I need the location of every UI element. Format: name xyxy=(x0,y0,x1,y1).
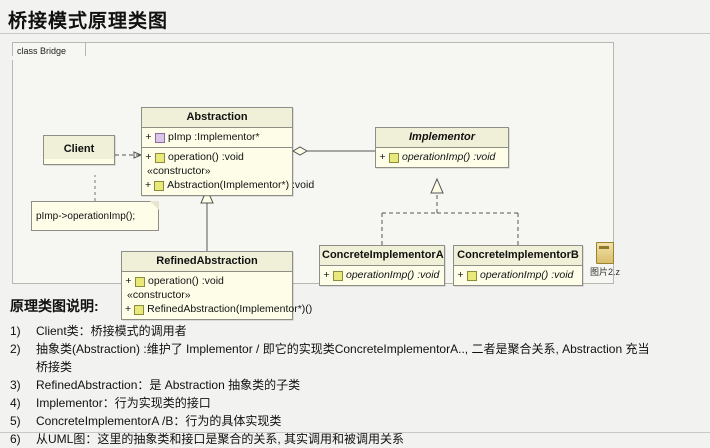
class-name-implementor: Implementor xyxy=(376,128,508,148)
member-text: operation() :void xyxy=(168,150,244,164)
visibility-marker: + xyxy=(379,150,386,164)
member-text: operation() :void xyxy=(148,274,224,288)
list-item: 3) RefinedAbstraction：是 Abstraction 抽象类的… xyxy=(10,376,700,394)
list-item-text: 抽象类(Abstraction) :维护了 Implementor / 即它的实… xyxy=(36,340,700,358)
visibility-marker: + xyxy=(145,130,152,144)
member-row: + operationImp() :void xyxy=(379,150,505,164)
list-item-text: ConcreteImplementorA /B：行为的具体实现类 xyxy=(36,412,700,430)
abstraction-operations: + operation() :void «constructor» + Abst… xyxy=(142,148,292,195)
member-row: + operationImp() :void xyxy=(457,268,579,282)
concrete-b-operations: + operationImp() :void xyxy=(454,266,582,285)
member-text: pImp :Implementor* xyxy=(168,130,260,144)
list-item-number: 4) xyxy=(10,394,36,412)
list-item-text: Implementor：行为实现类的接口 xyxy=(36,394,700,412)
class-name-concrete-implementor-a: ConcreteImplementorA xyxy=(320,246,444,266)
uml-class-concrete-implementor-a[interactable]: ConcreteImplementorA + operationImp() :v… xyxy=(319,245,445,286)
operation-icon xyxy=(467,271,477,281)
member-row: + operation() :void xyxy=(125,274,289,288)
concrete-a-operations: + operationImp() :void xyxy=(320,266,444,285)
member-row: + pImp :Implementor* xyxy=(145,130,289,144)
uml-diagram-canvas: class Bridge Abstraction (dashed depende… xyxy=(12,42,614,284)
member-text: operationImp() :void xyxy=(346,268,439,282)
page-title: 桥接模式原理类图 xyxy=(8,6,168,33)
bottom-divider xyxy=(0,432,710,433)
list-item-number: 5) xyxy=(10,412,36,430)
uml-class-client[interactable]: Client xyxy=(43,135,115,165)
list-item-number: 1) xyxy=(10,322,36,340)
stereotype-constructor: «constructor» xyxy=(145,164,289,178)
uml-class-abstraction[interactable]: Abstraction + pImp :Implementor* + opera… xyxy=(141,107,293,196)
visibility-marker: + xyxy=(145,178,151,192)
member-text: operationImp() :void xyxy=(402,150,495,164)
implementor-operations: + operationImp() :void xyxy=(376,148,508,167)
operation-icon xyxy=(333,271,343,281)
list-item-text: Client类：桥接模式的调用者 xyxy=(36,322,700,340)
operation-icon xyxy=(154,181,164,191)
explanation-heading: 原理类图说明: xyxy=(10,296,700,316)
note-fold-icon xyxy=(150,201,159,210)
list-item-number: 3) xyxy=(10,376,36,394)
thumbnail-caption: 图片2.z xyxy=(590,267,620,277)
title-divider xyxy=(0,33,710,34)
list-item: 4) Implementor：行为实现类的接口 xyxy=(10,394,700,412)
list-item: 5) ConcreteImplementorA /B：行为的具体实现类 xyxy=(10,412,700,430)
image-thumbnail[interactable]: 图片2.z xyxy=(585,242,625,278)
member-text: operationImp() :void xyxy=(480,268,573,282)
member-row: + operationImp() :void xyxy=(323,268,441,282)
class-name-abstraction: Abstraction xyxy=(142,108,292,128)
member-text: Abstraction(Implementor*) :void xyxy=(167,178,314,192)
uml-class-implementor[interactable]: Implementor + operationImp() :void xyxy=(375,127,509,168)
uml-class-concrete-implementor-b[interactable]: ConcreteImplementorB + operationImp() :v… xyxy=(453,245,583,286)
member-row: + operation() :void xyxy=(145,150,289,164)
note-text: pImp->operationImp(); xyxy=(36,211,135,222)
class-name-refined-abstraction: RefinedAbstraction xyxy=(122,252,292,272)
visibility-marker: + xyxy=(125,274,132,288)
uml-note[interactable]: pImp->operationImp(); xyxy=(31,201,159,231)
member-row: + Abstraction(Implementor*) :void xyxy=(145,178,289,192)
operation-icon xyxy=(155,153,165,163)
class-name-concrete-implementor-b: ConcreteImplementorB xyxy=(454,246,582,266)
image-file-icon xyxy=(596,242,614,264)
visibility-marker: + xyxy=(323,268,330,282)
list-item-text: RefinedAbstraction：是 Abstraction 抽象类的子类 xyxy=(36,376,700,394)
visibility-marker: + xyxy=(145,150,152,164)
explanation-section: 原理类图说明: 1) Client类：桥接模式的调用者 2) 抽象类(Abstr… xyxy=(10,296,700,448)
attribute-icon xyxy=(155,133,165,143)
operation-icon xyxy=(389,153,399,163)
class-name-client: Client xyxy=(44,136,114,159)
list-item-continuation: 桥接类 xyxy=(36,358,700,376)
list-item: 1) Client类：桥接模式的调用者 xyxy=(10,322,700,340)
visibility-marker: + xyxy=(457,268,464,282)
list-item-number: 2) xyxy=(10,340,36,358)
list-item: 2) 抽象类(Abstraction) :维护了 Implementor / 即… xyxy=(10,340,700,358)
abstraction-attributes: + pImp :Implementor* xyxy=(142,128,292,148)
operation-icon xyxy=(135,277,145,287)
